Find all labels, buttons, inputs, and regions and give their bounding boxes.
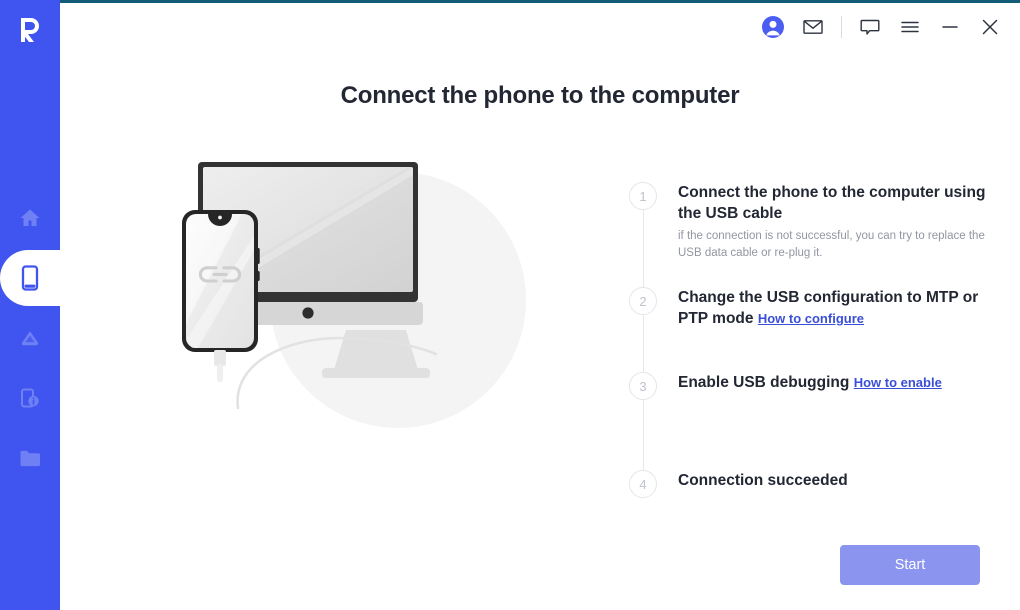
step-title: Connection succeeded xyxy=(678,471,998,492)
sidebar-nav xyxy=(0,188,60,488)
minimize-icon xyxy=(938,15,962,39)
step-description: if the connection is not successful, you… xyxy=(678,228,998,261)
phone-connected-to-monitor-illustration xyxy=(170,140,590,460)
titlebar-tools xyxy=(753,3,1010,50)
step-item: 1 Connect the phone to the computer usin… xyxy=(578,182,998,262)
step-number-badge: 4 xyxy=(629,470,657,498)
user-avatar-icon xyxy=(761,15,785,39)
account-button[interactable] xyxy=(753,7,793,47)
sidebar-item-backup[interactable] xyxy=(0,368,60,428)
folder-icon xyxy=(17,445,43,471)
sidebar-item-home[interactable] xyxy=(0,188,60,248)
step-title: Change the USB configuration to MTP or P… xyxy=(678,288,998,329)
how-to-enable-link[interactable]: How to enable xyxy=(854,375,942,390)
step-title: Enable USB debugging How to enable xyxy=(678,373,998,394)
close-button[interactable] xyxy=(970,7,1010,47)
messages-button[interactable] xyxy=(793,7,833,47)
sidebar-item-transfer[interactable] xyxy=(0,308,60,368)
how-to-configure-link[interactable]: How to configure xyxy=(758,311,864,326)
backup-info-icon xyxy=(17,385,43,411)
feedback-icon xyxy=(858,15,882,39)
step-number-badge: 2 xyxy=(629,287,657,315)
home-icon xyxy=(17,205,43,231)
hamburger-icon xyxy=(898,15,922,39)
main-panel: Connect the phone to the computer xyxy=(60,0,1020,610)
step-title-text: Enable USB debugging xyxy=(678,374,849,391)
sidebar-item-explorer[interactable] xyxy=(0,428,60,488)
steps-list: 1 Connect the phone to the computer usin… xyxy=(578,182,998,512)
app-logo-icon xyxy=(10,8,50,48)
minimize-button[interactable] xyxy=(930,7,970,47)
app-window: Connect the phone to the computer xyxy=(0,0,1020,610)
step-item: 3 Enable USB debugging How to enable xyxy=(578,372,998,400)
phone-icon xyxy=(17,265,43,291)
toolbar-divider xyxy=(841,16,842,38)
mail-icon xyxy=(801,15,825,39)
menu-button[interactable] xyxy=(890,7,930,47)
step-body: Connect the phone to the computer using … xyxy=(678,182,998,262)
feedback-button[interactable] xyxy=(850,7,890,47)
step-body: Enable USB debugging How to enable xyxy=(678,372,998,394)
step-item: 2 Change the USB configuration to MTP or… xyxy=(578,287,998,329)
step-body: Connection succeeded xyxy=(678,470,998,492)
close-icon xyxy=(978,15,1002,39)
sidebar xyxy=(0,0,60,610)
page-title: Connect the phone to the computer xyxy=(60,82,1020,110)
start-button[interactable]: Start xyxy=(840,545,980,585)
step-number-badge: 3 xyxy=(629,372,657,400)
step-body: Change the USB configuration to MTP or P… xyxy=(678,287,998,329)
titlebar xyxy=(60,3,1020,50)
step-number-badge: 1 xyxy=(629,182,657,210)
cloud-drive-icon xyxy=(17,325,43,351)
step-title: Connect the phone to the computer using … xyxy=(678,183,998,224)
step-item: 4 Connection succeeded xyxy=(578,470,998,498)
sidebar-item-phone[interactable] xyxy=(0,248,60,308)
